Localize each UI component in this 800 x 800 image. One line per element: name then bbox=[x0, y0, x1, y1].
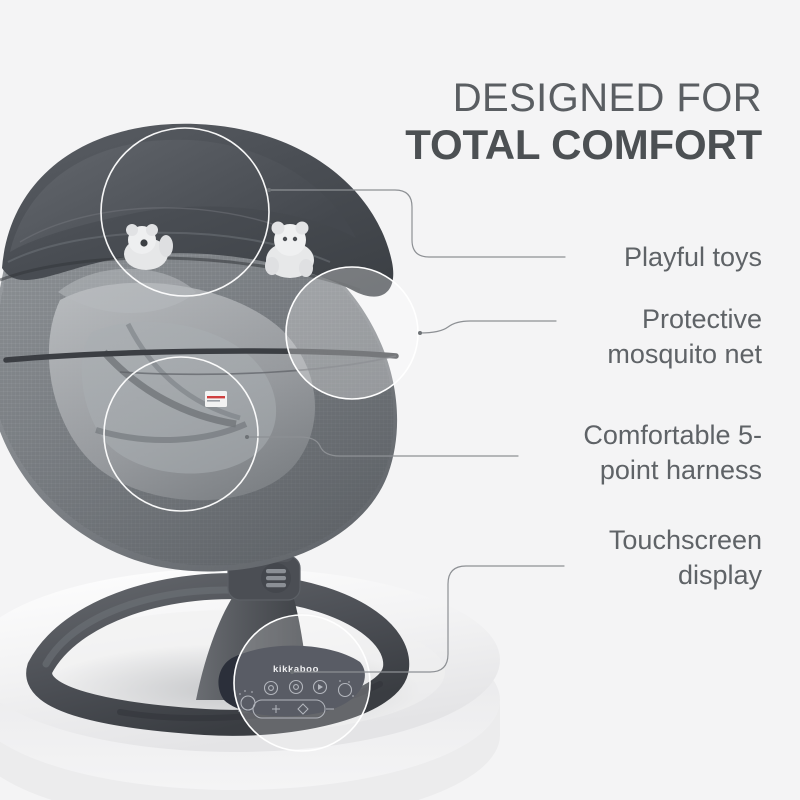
headline-line-1: DESIGNED FOR bbox=[405, 78, 762, 118]
brand-logo-text: kikkaboo bbox=[273, 664, 319, 675]
headline-line-2: TOTAL COMFORT bbox=[405, 124, 762, 166]
feature-label-touchscreen: Touchscreen display bbox=[609, 523, 762, 592]
headline: DESIGNED FOR TOTAL COMFORT bbox=[405, 78, 762, 166]
feature-label-mosquito-net: Protective mosquito net bbox=[607, 302, 762, 371]
feature-label-harness: Comfortable 5- point harness bbox=[583, 418, 762, 487]
feature-label-playful-toys: Playful toys bbox=[624, 240, 762, 275]
product-feature-graphic: kikkaboo bbox=[0, 0, 800, 800]
warning-label bbox=[205, 391, 227, 407]
